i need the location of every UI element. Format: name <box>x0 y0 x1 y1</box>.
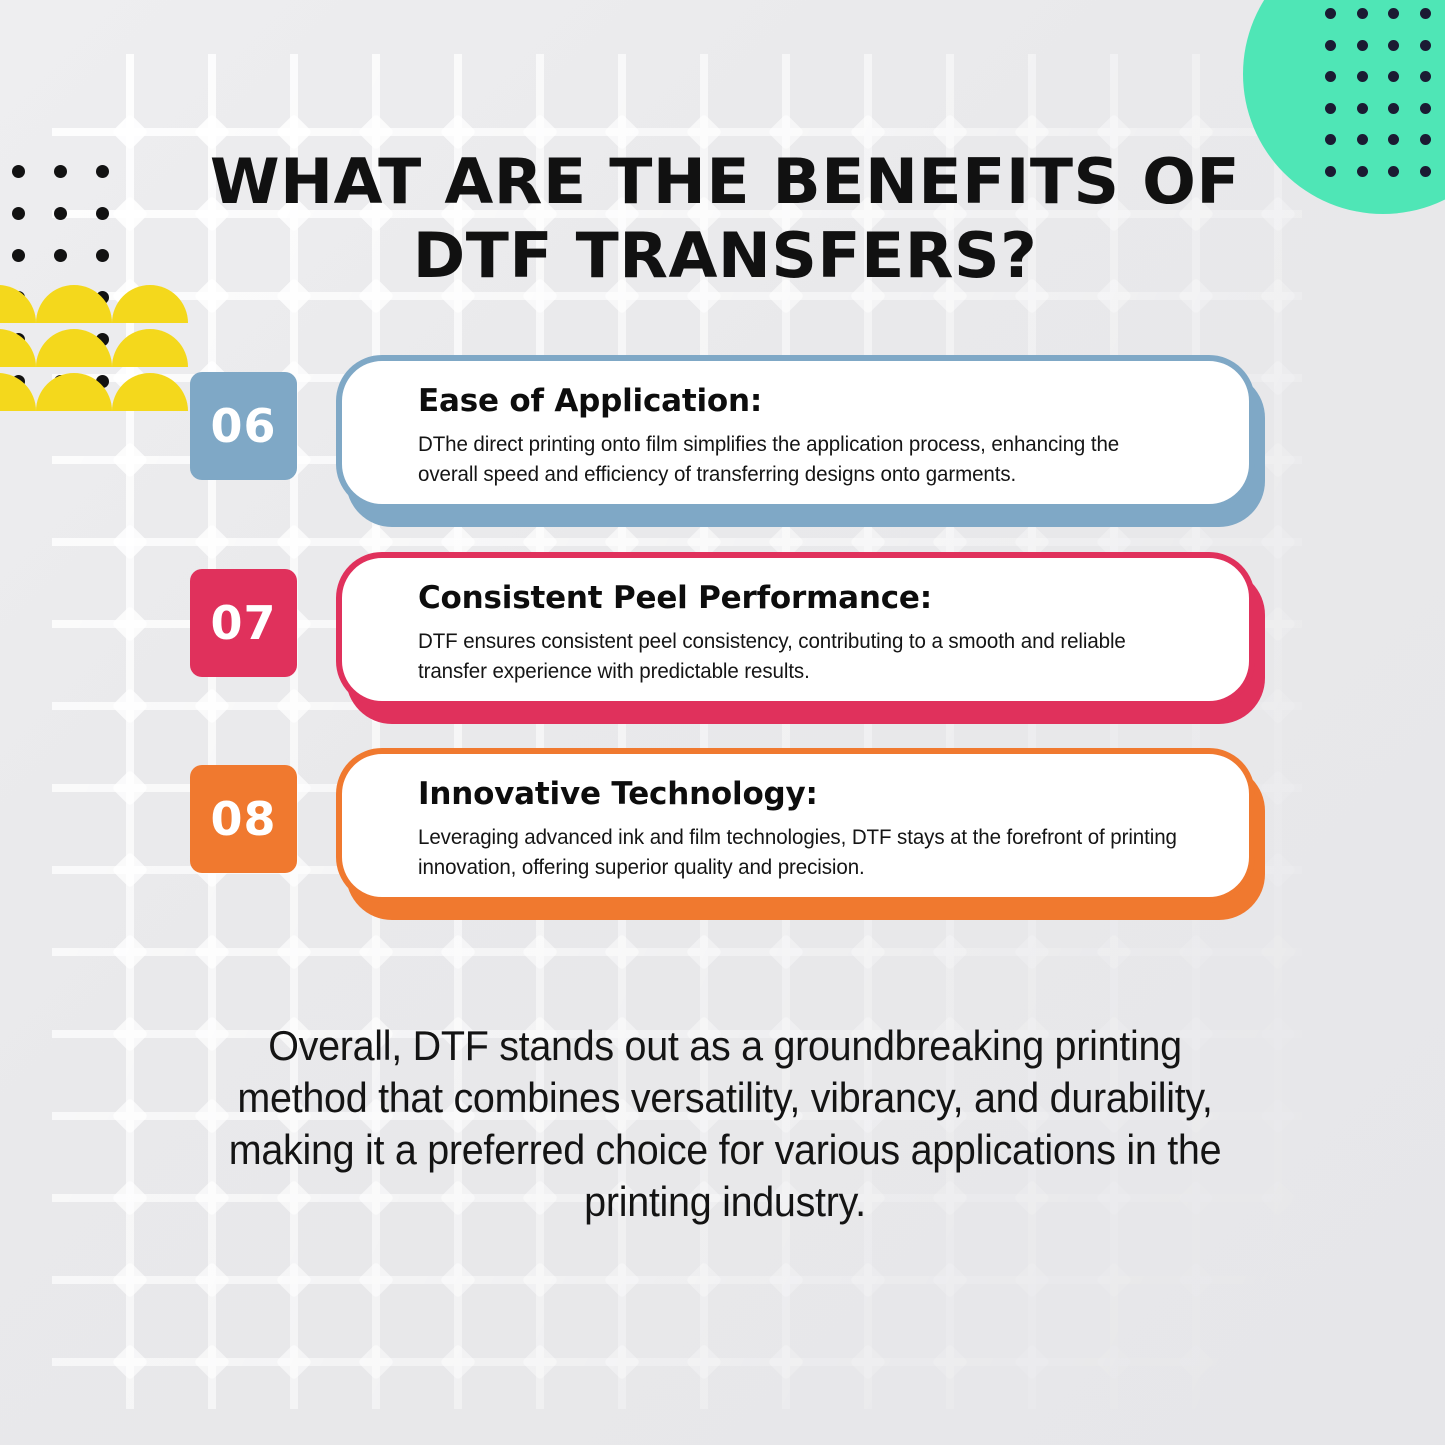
card-heading-07: Consistent Peel Performance: <box>418 579 1213 617</box>
grid-intersection-diamond <box>1014 1262 1051 1299</box>
decor-dot <box>54 249 67 262</box>
page-title: WHAT ARE THE BENEFITS OF DTF TRANSFERS? <box>139 145 1312 293</box>
card-body-06: DThe direct printing onto film simplifie… <box>418 429 1177 489</box>
decor-dot <box>96 165 109 178</box>
grid-intersection-diamond <box>358 1344 395 1381</box>
grid-intersection-diamond <box>1342 442 1379 479</box>
grid-intersection-diamond <box>1014 1344 1051 1381</box>
grid-intersection-diamond <box>1342 1098 1379 1135</box>
grid-intersection-diamond <box>1096 1344 1133 1381</box>
decor-dot <box>12 249 25 262</box>
grid-intersection-diamond <box>112 1098 149 1135</box>
grid-intersection-diamond <box>1178 1426 1215 1445</box>
grid-intersection-diamond <box>112 606 149 643</box>
benefit-card-06[interactable]: Ease of Application: DThe direct printin… <box>336 355 1255 510</box>
grid-intersection-diamond <box>686 1426 723 1445</box>
grid-intersection-diamond <box>1342 934 1379 971</box>
grid-intersection-diamond <box>112 1016 149 1053</box>
grid-intersection-diamond <box>112 934 149 971</box>
decor-dot <box>96 207 109 220</box>
decor-semicircle <box>112 329 188 367</box>
grid-intersection-diamond <box>1342 1426 1379 1445</box>
benefit-card-07[interactable]: Consistent Peel Performance: DTF ensures… <box>336 552 1255 707</box>
grid-intersection-diamond <box>1342 1180 1379 1217</box>
badge-label-06: 06 <box>210 399 276 453</box>
decor-dot <box>12 165 25 178</box>
grid-intersection-diamond <box>1342 360 1379 397</box>
decor-dot <box>54 165 67 178</box>
decor-semicircle <box>36 285 112 323</box>
grid-intersection-diamond <box>1260 1344 1297 1381</box>
grid-intersection-diamond <box>850 1344 887 1381</box>
grid-intersection-diamond <box>768 1344 805 1381</box>
decor-semicircle <box>36 373 112 411</box>
badge-number-06: 06 <box>190 372 297 480</box>
grid-intersection-diamond <box>1342 524 1379 561</box>
benefit-row-07: 07 Consistent Peel Performance: DTF ensu… <box>190 552 1265 722</box>
grid-intersection-diamond <box>1178 1262 1215 1299</box>
grid-intersection-diamond <box>112 1344 149 1381</box>
grid-intersection-diamond <box>1260 852 1297 889</box>
grid-intersection-diamond <box>768 1426 805 1445</box>
badge-label-08: 08 <box>210 792 276 846</box>
grid-intersection-diamond <box>194 934 231 971</box>
badge-label-07: 07 <box>210 596 276 650</box>
grid-intersection-diamond <box>604 1426 641 1445</box>
grid-intersection-diamond <box>1178 934 1215 971</box>
grid-intersection-diamond <box>850 934 887 971</box>
grid-intersection-diamond <box>358 1262 395 1299</box>
decor-semicircle <box>0 285 36 323</box>
decor-dot <box>12 207 25 220</box>
grid-intersection-diamond <box>358 1426 395 1445</box>
card-body-07: DTF ensures consistent peel consistency,… <box>418 626 1177 686</box>
grid-intersection-diamond <box>112 1262 149 1299</box>
benefit-row-06: 06 Ease of Application: DThe direct prin… <box>190 355 1265 525</box>
grid-intersection-diamond <box>1096 934 1133 971</box>
grid-intersection-diamond <box>686 1262 723 1299</box>
grid-intersection-diamond <box>768 934 805 971</box>
grid-intersection-diamond <box>194 1262 231 1299</box>
grid-intersection-diamond <box>1342 606 1379 643</box>
grid-intersection-diamond <box>440 934 477 971</box>
grid-intersection-diamond <box>112 688 149 725</box>
grid-intersection-diamond <box>850 1426 887 1445</box>
grid-intersection-diamond <box>276 1262 313 1299</box>
decor-semicircle <box>112 373 188 411</box>
grid-intersection-diamond <box>1260 770 1297 807</box>
grid-intersection-diamond <box>1342 688 1379 725</box>
grid-intersection-diamond <box>276 1344 313 1381</box>
grid-intersection-diamond <box>1260 442 1297 479</box>
grid-intersection-diamond <box>194 1426 231 1445</box>
grid-intersection-diamond <box>1260 1180 1297 1217</box>
grid-intersection-diamond <box>1014 934 1051 971</box>
grid-intersection-diamond <box>112 852 149 889</box>
grid-intersection-diamond <box>276 934 313 971</box>
grid-intersection-diamond <box>1260 1426 1297 1445</box>
grid-intersection-diamond <box>1260 934 1297 971</box>
decor-semicircle <box>36 329 112 367</box>
grid-intersection-diamond <box>932 1426 969 1445</box>
grid-intersection-diamond <box>440 1344 477 1381</box>
grid-intersection-diamond <box>440 1262 477 1299</box>
grid-intersection-diamond <box>522 1344 559 1381</box>
grid-intersection-diamond <box>1342 770 1379 807</box>
grid-intersection-diamond <box>932 934 969 971</box>
grid-intersection-diamond <box>1342 1016 1379 1053</box>
grid-intersection-diamond <box>1260 1098 1297 1135</box>
grid-intersection-diamond <box>112 1426 149 1445</box>
grid-intersection-diamond <box>686 934 723 971</box>
grid-intersection-diamond <box>850 1262 887 1299</box>
card-heading-06: Ease of Application: <box>418 382 1213 420</box>
grid-intersection-diamond <box>1096 1426 1133 1445</box>
grid-intersection-diamond <box>194 1344 231 1381</box>
benefit-card-08[interactable]: Innovative Technology: Leveraging advanc… <box>336 748 1255 903</box>
grid-intersection-diamond <box>686 1344 723 1381</box>
grid-intersection-diamond <box>1260 1262 1297 1299</box>
grid-intersection-diamond <box>1096 1262 1133 1299</box>
grid-intersection-diamond <box>276 1426 313 1445</box>
badge-number-07: 07 <box>190 569 297 677</box>
grid-intersection-diamond <box>1260 688 1297 725</box>
decor-dot <box>96 249 109 262</box>
grid-intersection-diamond <box>932 1262 969 1299</box>
grid-intersection-diamond <box>1260 1016 1297 1053</box>
summary-paragraph: Overall, DTF stands out as a groundbreak… <box>203 1020 1246 1228</box>
grid-intersection-diamond <box>522 1262 559 1299</box>
grid-intersection-diamond <box>1342 278 1379 315</box>
grid-intersection-diamond <box>112 442 149 479</box>
grid-intersection-diamond <box>522 934 559 971</box>
card-body-08: Leveraging advanced ink and film technol… <box>418 822 1177 882</box>
grid-intersection-diamond <box>604 1262 641 1299</box>
grid-intersection-diamond <box>112 770 149 807</box>
grid-intersection-diamond <box>1342 852 1379 889</box>
grid-intersection-diamond <box>1014 1426 1051 1445</box>
benefit-row-08: 08 Innovative Technology: Leveraging adv… <box>190 748 1265 918</box>
grid-intersection-diamond <box>1260 606 1297 643</box>
card-heading-08: Innovative Technology: <box>418 775 1213 813</box>
grid-intersection-diamond <box>522 1426 559 1445</box>
grid-intersection-diamond <box>1342 1262 1379 1299</box>
decor-dot <box>54 207 67 220</box>
grid-intersection-diamond <box>768 1262 805 1299</box>
decor-semicircle <box>0 329 36 367</box>
grid-intersection-diamond <box>1260 524 1297 561</box>
grid-intersection-diamond <box>1178 1344 1215 1381</box>
decor-semicircle <box>0 373 36 411</box>
grid-intersection-diamond <box>604 1344 641 1381</box>
grid-intersection-diamond <box>932 1344 969 1381</box>
infographic-canvas: WHAT ARE THE BENEFITS OF DTF TRANSFERS? … <box>0 0 1445 1445</box>
badge-number-08: 08 <box>190 765 297 873</box>
grid-intersection-diamond <box>1260 360 1297 397</box>
grid-intersection-diamond <box>112 524 149 561</box>
grid-intersection-diamond <box>440 1426 477 1445</box>
grid-intersection-diamond <box>358 934 395 971</box>
grid-intersection-diamond <box>604 934 641 971</box>
grid-intersection-diamond <box>112 1180 149 1217</box>
grid-intersection-diamond <box>1342 1344 1379 1381</box>
